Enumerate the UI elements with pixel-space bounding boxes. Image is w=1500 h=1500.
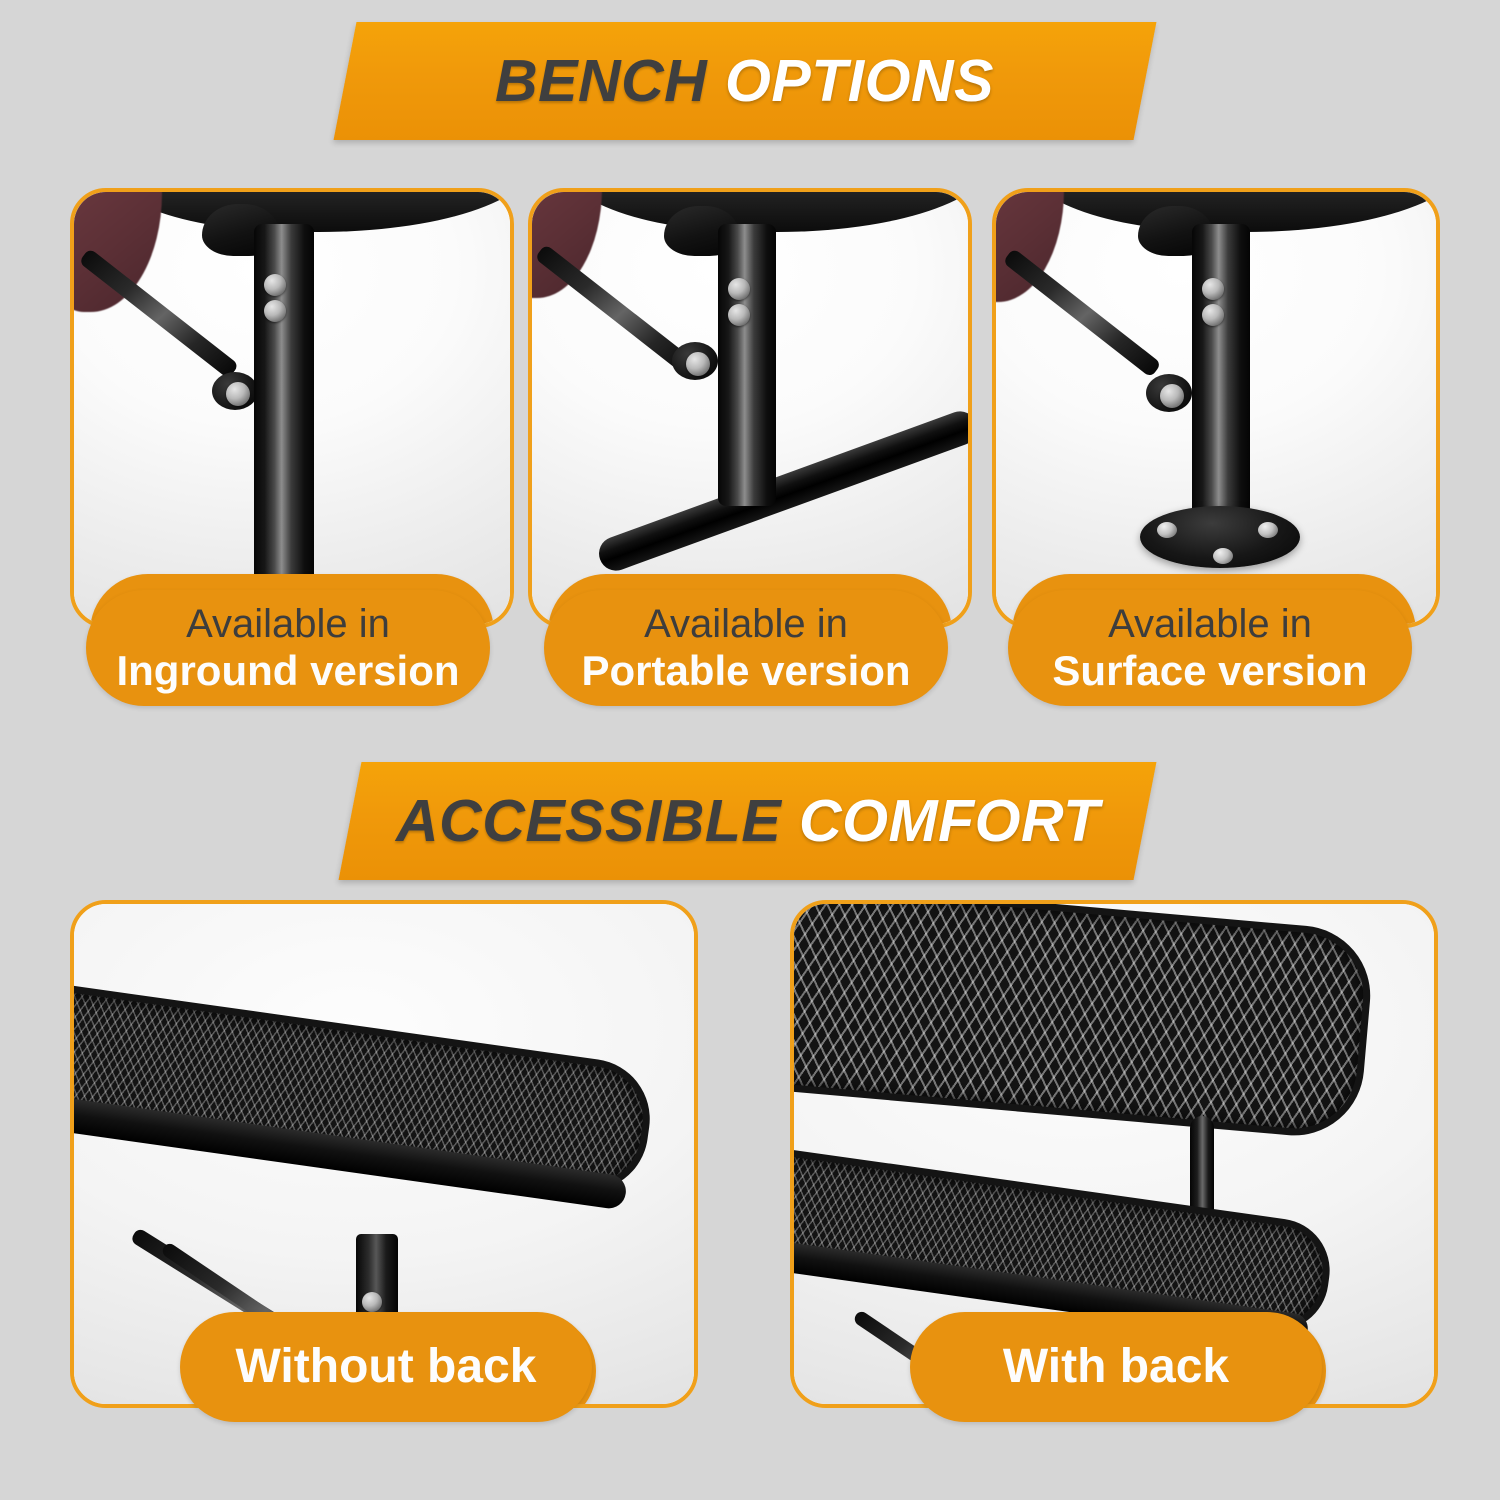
card-label-portable-overlay: Available in Portable version: [544, 590, 948, 706]
product-photo-inground: [74, 192, 510, 624]
bolt-upper: [728, 278, 750, 300]
label-line-2: Surface version: [1052, 647, 1367, 694]
bolt-upper: [362, 1292, 382, 1312]
anchor-bolt-right: [1258, 522, 1278, 538]
label-text: With back: [1003, 1340, 1229, 1394]
label-text: Without back: [236, 1340, 537, 1394]
card-label-without-back-overlay: Without back: [180, 1312, 592, 1422]
section-banner-bench-options: BENCH OPTIONS: [334, 22, 1157, 140]
anchor-bolt-left: [1157, 522, 1177, 538]
banner-word-light: OPTIONS: [725, 47, 994, 115]
anchor-bolt-bottom: [1213, 548, 1233, 564]
option-card-portable[interactable]: Available in Portable version: [528, 188, 972, 628]
banner-word-dark: BENCH: [495, 47, 707, 115]
banner-text-group: ACCESSIBLE COMFORT: [396, 787, 1100, 855]
banner-text-group: BENCH OPTIONS: [495, 47, 994, 115]
bolt-brace-pivot: [1160, 384, 1184, 408]
card-label-with-back-overlay: With back: [910, 1312, 1322, 1422]
label-line-2: Inground version: [116, 647, 459, 694]
section-banner-accessible-comfort: ACCESSIBLE COMFORT: [339, 762, 1157, 880]
infographic-page: BENCH OPTIONS Available in I: [0, 0, 1500, 1500]
bolt-lower: [728, 304, 750, 326]
card-label-inground-overlay: Available in Inground version: [86, 590, 490, 706]
card-label-surface-overlay: Available in Surface version: [1008, 590, 1412, 706]
support-post: [718, 224, 776, 506]
banner-word-dark: ACCESSIBLE: [396, 787, 781, 855]
bolt-lower: [1202, 304, 1224, 326]
banner-word-light: COMFORT: [799, 787, 1100, 855]
label-line-1: Available in: [1108, 602, 1312, 647]
option-card-inground[interactable]: Available in Inground version: [70, 188, 514, 628]
bolt-lower: [264, 300, 286, 322]
label-line-2: Portable version: [581, 647, 910, 694]
label-line-1: Available in: [186, 602, 390, 647]
option-card-surface[interactable]: Available in Surface version: [992, 188, 1440, 628]
backrest-mesh-surface: [794, 904, 1376, 1141]
bolt-brace-pivot: [686, 352, 710, 376]
bolt-upper: [1202, 278, 1224, 300]
bolt-brace-pivot: [226, 382, 250, 406]
product-photo-portable: [532, 192, 968, 624]
bolt-upper: [264, 274, 286, 296]
support-post: [1192, 224, 1250, 524]
product-photo-surface: [996, 192, 1436, 624]
label-line-1: Available in: [644, 602, 848, 647]
